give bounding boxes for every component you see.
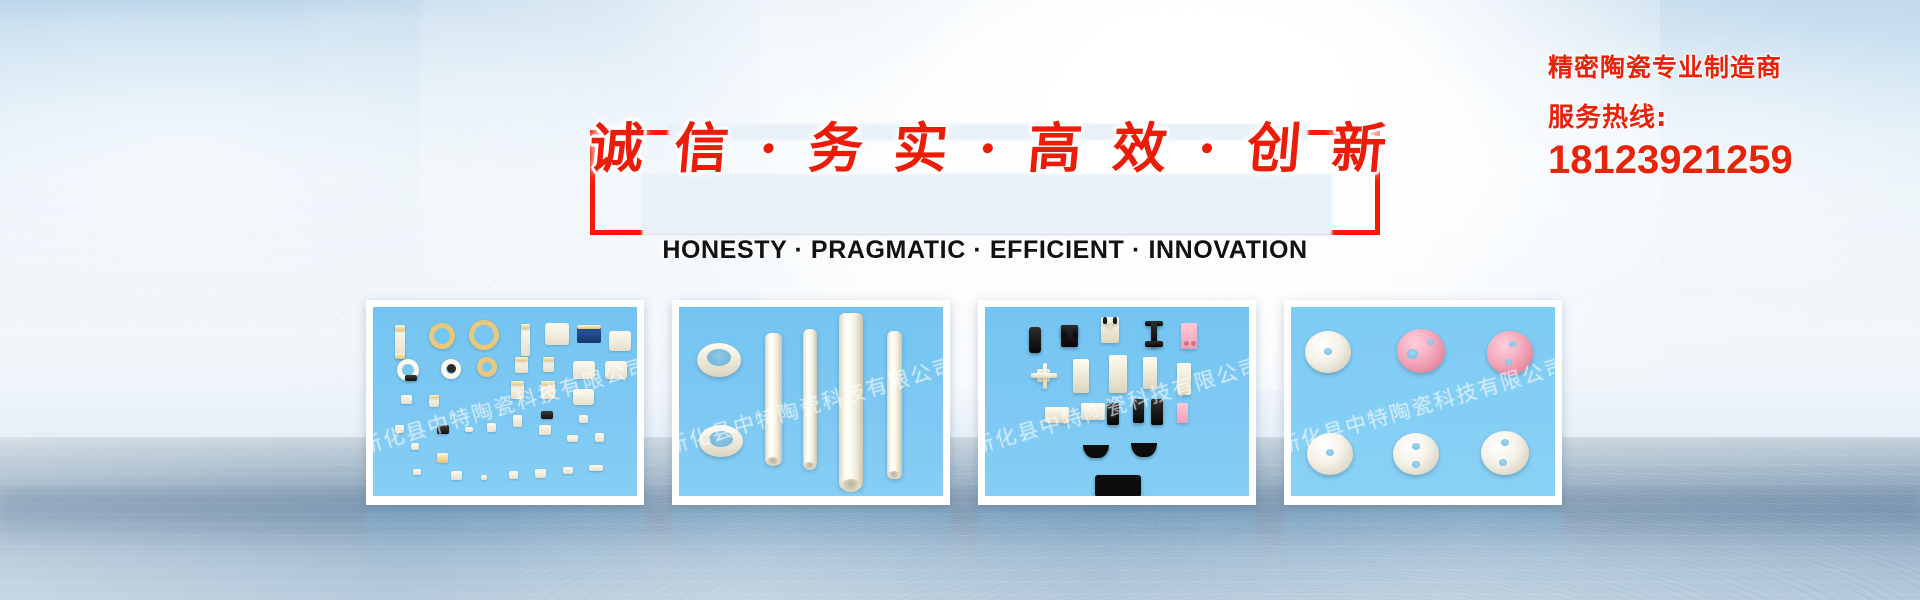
ceramic-tube <box>839 313 863 489</box>
product-panel-row: 新化县中特陶瓷科技有限公司 新化县中特陶瓷科技有限公司 <box>366 300 1562 505</box>
promotional-banner: 诚 信 · 务 实 · 高 效 · 创 新 HONESTY · PRAGMATI… <box>0 0 1920 600</box>
slogan-english: HONESTY · PRAGMATIC · EFFICIENT · INNOVA… <box>590 236 1380 265</box>
company-tagline: 精密陶瓷专业制造商 <box>1548 48 1868 84</box>
panel-smd-ceramic-components[interactable]: 新化县中特陶瓷科技有限公司 <box>366 300 644 505</box>
panel-reflections <box>366 508 1562 586</box>
contact-block: 精密陶瓷专业制造商 服务热线: 18123921259 <box>1548 48 1868 183</box>
panel-image-area: 新化县中特陶瓷科技有限公司 <box>373 307 637 496</box>
ceramic-tube <box>803 329 817 469</box>
panel-ceramic-discs[interactable]: 新化县中特陶瓷科技有限公司 <box>1284 300 1562 505</box>
slogan-chinese: 诚 信 · 务 实 · 高 效 · 创 新 <box>587 104 1384 183</box>
panel-ceramic-tubes-rings[interactable]: 新化县中特陶瓷科技有限公司 <box>672 300 950 505</box>
panel-reflection <box>672 508 950 586</box>
ceramic-tube <box>765 333 782 465</box>
ceramic-tube <box>887 331 902 479</box>
ceramic-disc <box>1481 431 1529 475</box>
panel-image-area: 新化县中特陶瓷科技有限公司 <box>1291 307 1555 496</box>
ceramic-disc <box>1397 329 1445 373</box>
panel-reflection <box>1284 508 1562 586</box>
hotline-number[interactable]: 18123921259 <box>1548 138 1868 183</box>
panel-image-area: 新化县中特陶瓷科技有限公司 <box>679 307 943 496</box>
panel-image-area: 新化县中特陶瓷科技有限公司 <box>985 307 1249 496</box>
slogan-block: 诚 信 · 务 实 · 高 效 · 创 新 HONESTY · PRAGMATI… <box>590 130 1380 235</box>
panel-ceramic-blocks[interactable]: 新化县中特陶瓷科技有限公司 <box>978 300 1256 505</box>
ceramic-disc <box>1487 331 1533 375</box>
panel-reflection <box>366 508 644 586</box>
panel-reflection <box>978 508 1256 586</box>
ceramic-disc <box>1393 433 1439 475</box>
hotline-label: 服务热线: <box>1548 97 1868 134</box>
